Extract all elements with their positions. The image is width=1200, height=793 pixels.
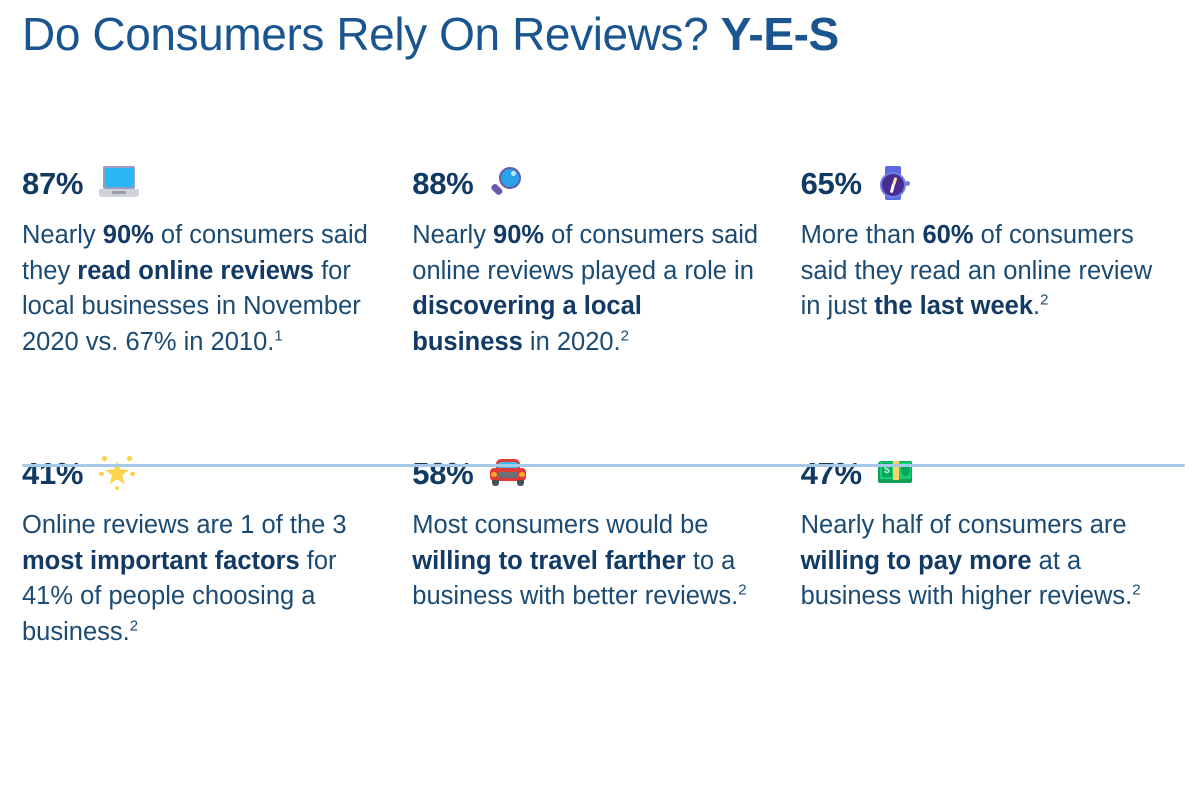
stat-header: 65%: [801, 163, 1174, 203]
footnote-marker: 2: [621, 327, 629, 344]
stat-card-65: 65% More than 60% of consumers said they…: [799, 163, 1186, 453]
stat-text-run: More than: [801, 221, 923, 249]
stat-header: 47% $: [801, 453, 1174, 493]
stat-percent: 41%: [22, 458, 83, 489]
stat-text-run: Nearly half of consumers are: [801, 511, 1127, 539]
stat-card-88: 88% Nearly 90% of consumers said online …: [410, 163, 798, 453]
stat-text-strong: 90%: [493, 221, 544, 249]
stat-text-strong: the last week: [874, 292, 1033, 320]
stat-text-strong: willing to travel farther: [412, 547, 685, 575]
footnote-marker: 1: [274, 327, 282, 344]
magnifier-lens: [499, 167, 521, 189]
stat-card-58: 58% Most consumers would be willing to t…: [410, 453, 798, 693]
stat-header: 87%: [22, 163, 370, 203]
star-ray: [115, 486, 119, 490]
stat-text-run: Online reviews are 1 of the 3: [22, 511, 347, 539]
stat-card-41: 41% Online reviews are 1 of the 3 most i…: [22, 453, 410, 693]
stat-text-strong: 90%: [103, 221, 154, 249]
laptop-lid: [103, 166, 135, 189]
car-tire: [517, 480, 524, 486]
car-icon: [489, 458, 527, 488]
stat-text-strong: 60%: [923, 221, 974, 249]
stat-card-87: 87% Nearly 90% of consumers said they re…: [22, 163, 410, 453]
stat-text-strong: most important factors: [22, 547, 300, 575]
stat-card-47: 47% $ Nearly half of consumers are willi…: [799, 453, 1186, 693]
stat-percent: 47%: [801, 458, 862, 489]
page-title-plain: Do Consumers Rely On Reviews?: [22, 8, 721, 60]
stat-percent: 65%: [801, 168, 862, 199]
footnote-marker: 2: [1132, 582, 1140, 599]
footnote-marker: 2: [1040, 292, 1048, 309]
stat-description: Nearly 90% of consumers said online revi…: [412, 218, 758, 360]
stat-header: 58%: [412, 453, 758, 493]
stat-text-run: Most consumers would be: [412, 511, 708, 539]
stat-description: Nearly 90% of consumers said they read o…: [22, 218, 370, 360]
star-ray: [99, 472, 104, 476]
car-tire: [492, 480, 499, 486]
stat-text-run: in 2020.: [523, 328, 621, 356]
star-ray: [130, 472, 135, 476]
infographic-page: Do Consumers Rely On Reviews? Y-E-S 87% …: [0, 0, 1200, 793]
stat-description: More than 60% of consumers said they rea…: [801, 218, 1174, 325]
stat-description: Online reviews are 1 of the 3 most impor…: [22, 508, 370, 650]
star-ray: [101, 455, 108, 462]
laptop-screen: [105, 168, 133, 187]
stat-text-strong: willing to pay more: [801, 547, 1032, 575]
stat-description: Nearly half of consumers are willing to …: [801, 508, 1174, 615]
page-title: Do Consumers Rely On Reviews? Y-E-S: [22, 8, 839, 61]
stat-text-run: Nearly: [22, 221, 103, 249]
watch-icon: [878, 166, 910, 200]
stat-description: Most consumers would be willing to trave…: [412, 508, 758, 615]
page-title-emphasis: Y-E-S: [721, 8, 839, 60]
stat-percent: 58%: [412, 458, 473, 489]
row-divider: [22, 464, 1185, 467]
footnote-marker: 2: [738, 582, 746, 599]
laptop-icon: [99, 166, 139, 200]
laptop-trackpad: [112, 191, 126, 194]
stat-percent: 87%: [22, 168, 83, 199]
footnote-marker: 2: [130, 617, 138, 634]
stat-text-run: Nearly: [412, 221, 493, 249]
glowing-star-icon: [99, 456, 135, 490]
stat-percent: 88%: [412, 168, 473, 199]
star-ray: [126, 455, 133, 462]
stats-row-top: 87% Nearly 90% of consumers said they re…: [22, 163, 1186, 453]
stat-text-strong: read online reviews: [77, 257, 314, 285]
stat-header: 88%: [412, 163, 758, 203]
car-grille: [498, 472, 518, 478]
stat-header: 41%: [22, 453, 370, 493]
stats-row-bottom: 41% Online reviews are 1 of the 3 most i…: [22, 453, 1186, 693]
stats-grid: 87% Nearly 90% of consumers said they re…: [22, 163, 1186, 693]
magnifying-glass-icon: [489, 166, 523, 200]
